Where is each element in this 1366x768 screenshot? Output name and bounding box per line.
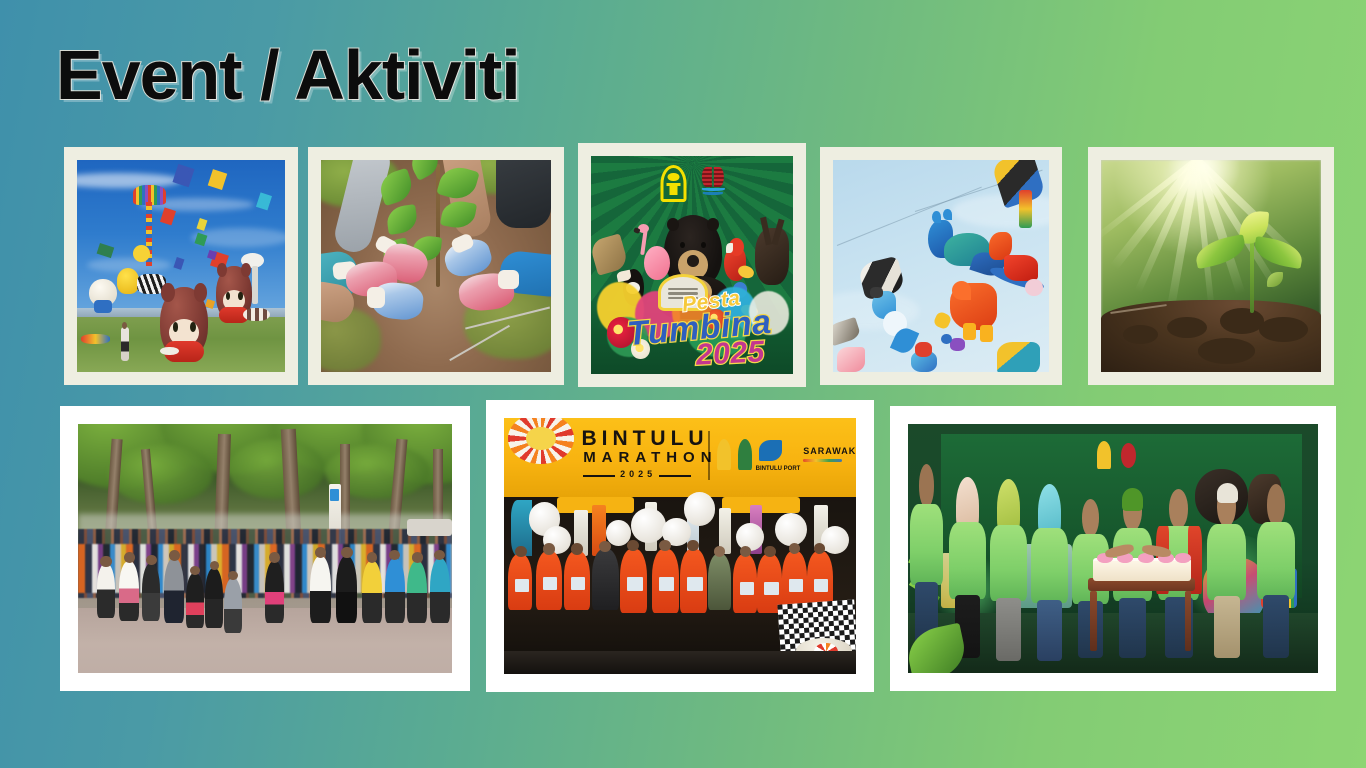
vip-person: [910, 464, 943, 648]
ground-kite: [81, 334, 110, 345]
photo-frame-bintulu-marathon[interactable]: BINTULU MARATHON 2025 BINTULU PORT SARAW…: [486, 400, 874, 692]
sarawak-crest-logo: [717, 439, 731, 471]
balloon: [684, 492, 716, 525]
marathon-title: BINTULU: [581, 428, 708, 449]
marathon-arch-banner: BINTULU MARATHON 2025 BINTULU PORT SARAW…: [504, 418, 856, 497]
child: [186, 573, 203, 628]
balloon: [775, 513, 807, 546]
person: [121, 327, 129, 361]
balloon: [821, 526, 849, 554]
bintulu-port-logo: [759, 440, 782, 461]
person: [119, 561, 139, 621]
vip-person: [310, 556, 331, 623]
child: [205, 568, 223, 628]
council-logo: [738, 439, 752, 471]
kite: [950, 338, 965, 351]
kite: [94, 300, 113, 313]
vip-person: [1207, 486, 1246, 658]
vip-person: [336, 556, 357, 623]
person: [385, 558, 405, 623]
kite: [837, 347, 865, 372]
balloon: [631, 508, 666, 544]
vip-person: [1031, 491, 1068, 660]
marathon-subtitle: MARATHON: [583, 450, 717, 465]
person: [430, 558, 450, 623]
chipmunk-kite-tail: [243, 308, 270, 321]
bintulu-marathon-photo: BINTULU MARATHON 2025 BINTULU PORT SARAW…: [504, 418, 856, 674]
runner: [708, 554, 731, 610]
community-run-photo: [78, 424, 452, 673]
person: [164, 558, 184, 623]
state-crest-logo: [661, 165, 687, 202]
photo-frame-community-run[interactable]: [60, 406, 470, 691]
tree-planting-photo: [321, 160, 551, 372]
cap: [1217, 483, 1238, 504]
marathon-year: 2025: [620, 470, 656, 479]
runner: [592, 549, 619, 610]
child: [224, 578, 242, 633]
council-logo: [1121, 443, 1136, 468]
kite: [997, 342, 1040, 372]
kite: [870, 287, 883, 298]
poster-title-line3: 2025: [695, 337, 765, 371]
state-crest-logo: [1097, 441, 1112, 468]
sponsor-bintulu-port: BINTULU PORT: [756, 466, 801, 472]
sponsor-sarawak: SARAWAK: [803, 446, 856, 456]
kite: [1025, 279, 1042, 296]
ground-kite: [160, 347, 179, 355]
kite: [915, 342, 932, 357]
kite-festival-photo: [77, 160, 285, 372]
vip-person: [1257, 484, 1296, 658]
page-title: Event / Aktiviti: [56, 40, 520, 110]
kite: [133, 245, 150, 262]
road: [504, 651, 856, 674]
council-logo: [700, 167, 726, 200]
kite: [941, 334, 952, 345]
vehicle: [407, 519, 452, 536]
photo-frame-tree-planting[interactable]: [308, 147, 564, 385]
kite-tail: [1019, 190, 1032, 228]
person: [142, 563, 161, 620]
cap: [1122, 488, 1142, 511]
photo-frame-pesta-tumbina[interactable]: Pesta Tumbina 2025: [578, 143, 806, 387]
seedling: [1220, 215, 1286, 313]
photo-frame-animal-kites[interactable]: [820, 147, 1062, 385]
person: [265, 561, 284, 623]
photo-frame-cake-cutting[interactable]: [890, 406, 1336, 691]
animal-kites-photo: [833, 160, 1049, 372]
kite: [1004, 255, 1039, 280]
photo-frame-kite-festival[interactable]: [64, 147, 298, 385]
cake-cutting-photo: [908, 424, 1318, 673]
person: [362, 561, 381, 623]
seahorse-kite: [872, 291, 920, 355]
kite: [117, 268, 140, 293]
seedling-photo: [1101, 160, 1321, 372]
deer: [755, 228, 789, 285]
marathon-starburst-logo: [508, 418, 575, 464]
person: [407, 561, 427, 623]
pesta-tumbina-poster: Pesta Tumbina 2025: [591, 156, 793, 374]
person: [97, 563, 116, 618]
kite-tail: [252, 266, 258, 304]
person-dark-clothing: [496, 160, 551, 228]
vip-person: [990, 486, 1027, 660]
photo-frame-seedling[interactable]: [1088, 147, 1334, 385]
